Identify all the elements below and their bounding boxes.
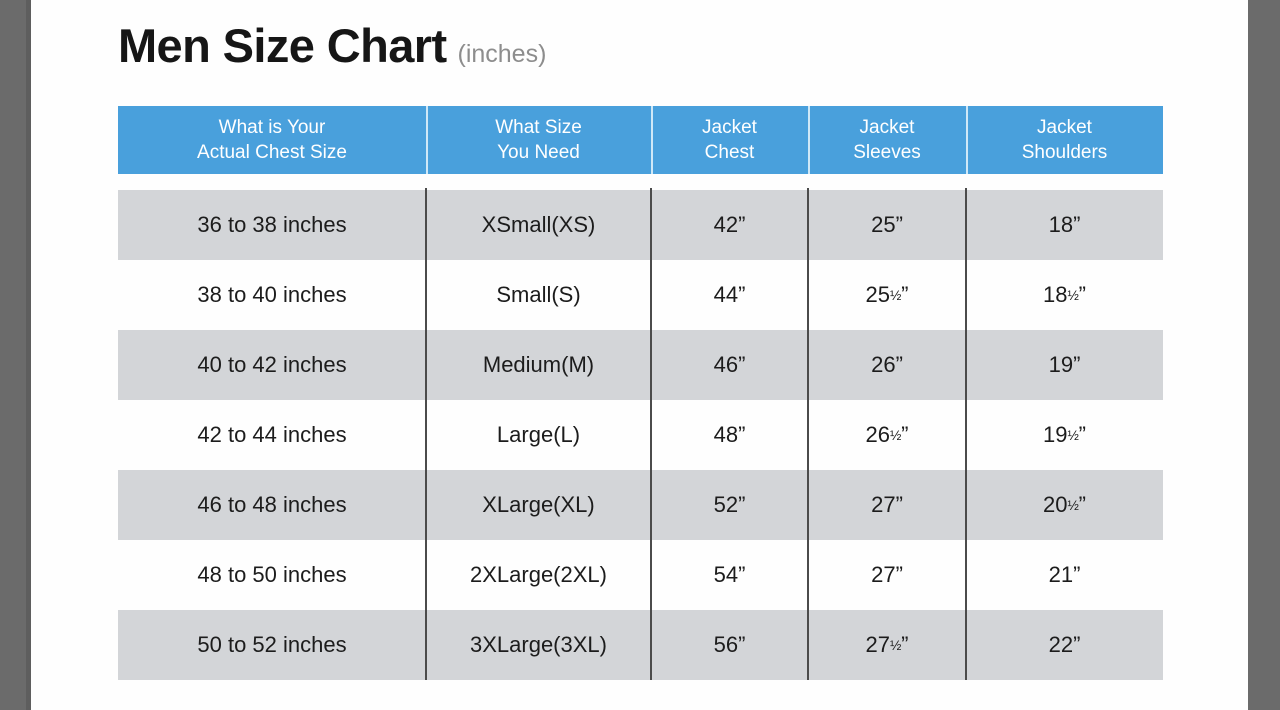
cell-jacket-sleeves: 27” [808, 470, 966, 540]
cell-value-whole: 22 [1049, 632, 1073, 658]
cell-value-whole: 42 [714, 212, 738, 238]
column-header-line1: Jacket [860, 115, 915, 140]
cell-value-whole: 46 [714, 352, 738, 378]
cell-value-whole: 27 [866, 632, 890, 658]
inch-mark: ” [1073, 352, 1080, 378]
cell-value-whole: 27 [871, 562, 895, 588]
table-body: 36 to 38 inchesXSmall(XS)42”25”18”38 to … [118, 190, 1163, 680]
inch-mark: ” [1073, 212, 1080, 238]
cell-jacket-shoulders: 18½” [966, 260, 1163, 330]
cell-value-whole: 26 [871, 352, 895, 378]
cell-jacket-sleeves: 26” [808, 330, 966, 400]
column-header-size-needed: What SizeYou Need [426, 106, 651, 174]
inch-mark: ” [1073, 562, 1080, 588]
cell-value-whole: 56 [714, 632, 738, 658]
inch-mark: ” [901, 282, 908, 308]
column-header-jacket-sleeves: JacketSleeves [808, 106, 966, 174]
cell-text: Small(S) [496, 282, 580, 308]
cell-jacket-sleeves: 27½” [808, 610, 966, 680]
cell-jacket-shoulders: 20½” [966, 470, 1163, 540]
cell-value-fraction: ½ [890, 288, 901, 303]
table-row: 36 to 38 inchesXSmall(XS)42”25”18” [118, 190, 1163, 260]
cell-value-whole: 21 [1049, 562, 1073, 588]
column-divider-3 [807, 188, 809, 680]
cell-jacket-sleeves: 26½” [808, 400, 966, 470]
cell-value-whole: 48 [714, 422, 738, 448]
cell-size-needed: Medium(M) [426, 330, 651, 400]
cell-text: 3XLarge(3XL) [470, 632, 607, 658]
column-header-chest-size: What is YourActual Chest Size [118, 106, 426, 174]
cell-value-whole: 18 [1043, 282, 1067, 308]
cell-jacket-chest: 42” [651, 190, 808, 260]
column-header-line2: You Need [497, 140, 580, 165]
cell-jacket-chest: 46” [651, 330, 808, 400]
table-row: 48 to 50 inches2XLarge(2XL)54”27”21” [118, 540, 1163, 610]
inch-mark: ” [738, 492, 745, 518]
cell-jacket-chest: 54” [651, 540, 808, 610]
cell-chest-size: 38 to 40 inches [118, 260, 426, 330]
cell-jacket-shoulders: 21” [966, 540, 1163, 610]
inch-mark: ” [896, 492, 903, 518]
inch-mark: ” [738, 282, 745, 308]
inch-mark: ” [738, 352, 745, 378]
screen: Men Size Chart (inches) What is YourActu… [0, 0, 1280, 710]
cell-value-whole: 19 [1049, 352, 1073, 378]
cell-value-whole: 26 [866, 422, 890, 448]
cell-value-whole: 25 [871, 212, 895, 238]
inch-mark: ” [1073, 632, 1080, 658]
title-unit-text: (inches) [458, 42, 547, 67]
cell-size-needed: Large(L) [426, 400, 651, 470]
cell-text: Large(L) [497, 422, 580, 448]
cell-size-needed: XLarge(XL) [426, 470, 651, 540]
cell-jacket-sleeves: 27” [808, 540, 966, 610]
inch-mark: ” [738, 212, 745, 238]
cell-size-needed: 2XLarge(2XL) [426, 540, 651, 610]
cell-text: XSmall(XS) [482, 212, 596, 238]
cell-text: 50 to 52 inches [197, 632, 346, 658]
cell-size-needed: Small(S) [426, 260, 651, 330]
column-header-line1: What Size [495, 115, 582, 140]
inch-mark: ” [738, 422, 745, 448]
cell-value-fraction: ½ [890, 428, 901, 443]
chart-page: Men Size Chart (inches) What is YourActu… [31, 0, 1248, 710]
cell-value-whole: 18 [1049, 212, 1073, 238]
cell-chest-size: 46 to 48 inches [118, 470, 426, 540]
column-header-jacket-chest: JacketChest [651, 106, 808, 174]
cell-jacket-chest: 52” [651, 470, 808, 540]
table-row: 50 to 52 inches3XLarge(3XL)56”27½”22” [118, 610, 1163, 680]
table-row: 38 to 40 inchesSmall(S)44”25½”18½” [118, 260, 1163, 330]
cell-jacket-shoulders: 18” [966, 190, 1163, 260]
column-divider-1 [425, 188, 427, 680]
cell-chest-size: 40 to 42 inches [118, 330, 426, 400]
cell-value-whole: 25 [866, 282, 890, 308]
inch-mark: ” [1079, 492, 1086, 518]
table-row: 42 to 44 inchesLarge(L)48”26½”19½” [118, 400, 1163, 470]
inch-mark: ” [1079, 422, 1086, 448]
inch-mark: ” [896, 352, 903, 378]
cell-jacket-chest: 44” [651, 260, 808, 330]
cell-jacket-sleeves: 25½” [808, 260, 966, 330]
cell-jacket-chest: 48” [651, 400, 808, 470]
cell-text: XLarge(XL) [482, 492, 595, 518]
column-header-line2: Sleeves [853, 140, 921, 165]
title-main-text: Men Size Chart [118, 22, 447, 69]
page-title: Men Size Chart (inches) [118, 22, 546, 69]
table-row: 46 to 48 inchesXLarge(XL)52”27”20½” [118, 470, 1163, 540]
inch-mark: ” [901, 422, 908, 448]
cell-text: 38 to 40 inches [197, 282, 346, 308]
inch-mark: ” [1079, 282, 1086, 308]
cell-value-fraction: ½ [1068, 428, 1079, 443]
cell-jacket-shoulders: 19” [966, 330, 1163, 400]
cell-chest-size: 48 to 50 inches [118, 540, 426, 610]
inch-mark: ” [738, 562, 745, 588]
column-header-line1: What is Your [219, 115, 326, 140]
cell-jacket-sleeves: 25” [808, 190, 966, 260]
cell-value-whole: 19 [1043, 422, 1067, 448]
cell-text: 2XLarge(2XL) [470, 562, 607, 588]
left-letterbox-band [0, 0, 26, 710]
cell-jacket-chest: 56” [651, 610, 808, 680]
cell-value-whole: 52 [714, 492, 738, 518]
cell-chest-size: 42 to 44 inches [118, 400, 426, 470]
column-divider-4 [965, 188, 967, 680]
column-header-line1: Jacket [1037, 115, 1092, 140]
inch-mark: ” [896, 562, 903, 588]
cell-value-whole: 54 [714, 562, 738, 588]
table-header-row: What is YourActual Chest SizeWhat SizeYo… [118, 106, 1163, 174]
cell-text: 36 to 38 inches [197, 212, 346, 238]
cell-value-whole: 27 [871, 492, 895, 518]
column-header-line2: Chest [705, 140, 755, 165]
cell-value-fraction: ½ [1068, 288, 1079, 303]
inch-mark: ” [738, 632, 745, 658]
cell-chest-size: 50 to 52 inches [118, 610, 426, 680]
cell-text: Medium(M) [483, 352, 594, 378]
size-chart-table: What is YourActual Chest SizeWhat SizeYo… [118, 106, 1163, 680]
cell-value-whole: 44 [714, 282, 738, 308]
inch-mark: ” [896, 212, 903, 238]
right-letterbox-band [1248, 0, 1280, 710]
cell-jacket-shoulders: 19½” [966, 400, 1163, 470]
column-divider-2 [650, 188, 652, 680]
column-header-jacket-shoulders: JacketShoulders [966, 106, 1163, 174]
cell-size-needed: 3XLarge(3XL) [426, 610, 651, 680]
cell-jacket-shoulders: 22” [966, 610, 1163, 680]
column-header-line2: Actual Chest Size [197, 140, 347, 165]
cell-value-fraction: ½ [1068, 498, 1079, 513]
inch-mark: ” [901, 632, 908, 658]
cell-text: 40 to 42 inches [197, 352, 346, 378]
cell-text: 42 to 44 inches [197, 422, 346, 448]
table-row: 40 to 42 inchesMedium(M)46”26”19” [118, 330, 1163, 400]
cell-value-fraction: ½ [890, 638, 901, 653]
cell-text: 48 to 50 inches [197, 562, 346, 588]
cell-chest-size: 36 to 38 inches [118, 190, 426, 260]
column-header-line2: Shoulders [1022, 140, 1108, 165]
cell-value-whole: 20 [1043, 492, 1067, 518]
column-header-line1: Jacket [702, 115, 757, 140]
cell-text: 46 to 48 inches [197, 492, 346, 518]
cell-size-needed: XSmall(XS) [426, 190, 651, 260]
